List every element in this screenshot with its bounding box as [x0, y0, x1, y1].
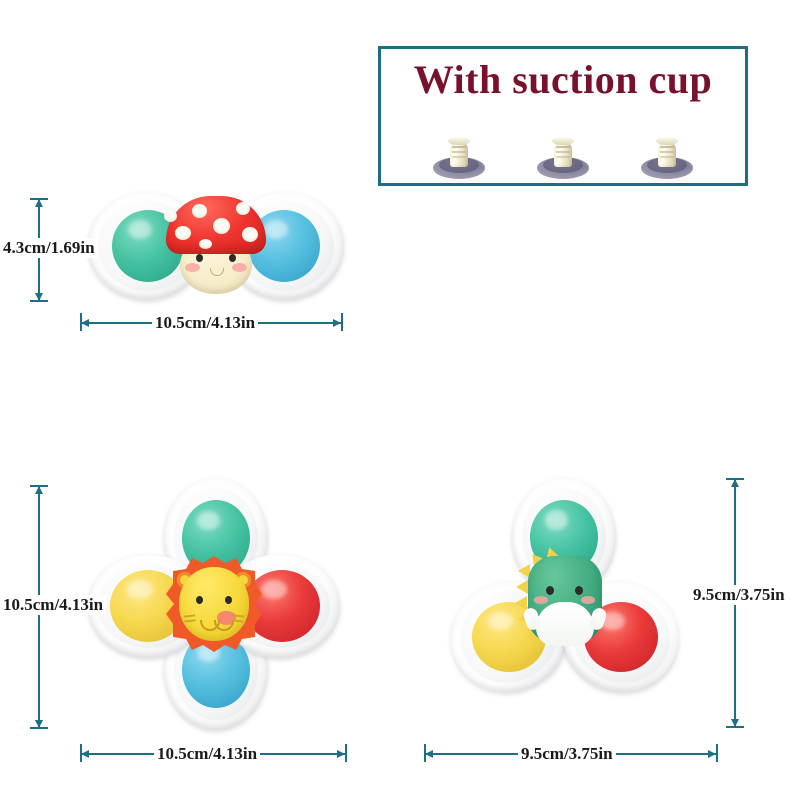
dinosaur-belly — [536, 602, 594, 646]
dimension-tick — [341, 313, 343, 331]
mushroom-eye-left — [196, 254, 203, 262]
dimension-arrow-down — [731, 719, 739, 727]
suction-cup-icon — [431, 137, 487, 181]
dimension-arrow-down — [35, 720, 43, 728]
lion-mouth-right — [214, 620, 234, 631]
dinosaur-cheek-left — [534, 596, 548, 604]
suction-cup-knob-top — [552, 137, 574, 145]
lion-whiskers-left — [184, 614, 195, 617]
dimension-arrow-right — [337, 750, 345, 758]
suction-cup-banner: With suction cup — [378, 46, 748, 186]
mushroom-cap — [166, 196, 266, 254]
mushroom-height-label: 4.3cm/1.69in — [0, 238, 98, 258]
mushroom-eye-right — [229, 254, 236, 262]
dimension-arrow-left — [81, 750, 89, 758]
dimension-arrow-down — [35, 293, 43, 301]
mushroom-cap-dot — [236, 202, 250, 215]
mushroom-cheek-right — [232, 263, 247, 272]
dimension-arrow-up — [35, 486, 43, 494]
suction-cup-icon — [535, 137, 591, 181]
lion-spinner — [88, 478, 340, 730]
dinosaur-spinner — [450, 478, 680, 708]
suction-cup-knob — [658, 143, 676, 167]
mushroom-spinner — [88, 186, 344, 308]
mushroom-cap-dot — [242, 227, 258, 242]
dinosaur-eye-left — [546, 586, 554, 595]
banner-title: With suction cup — [381, 59, 745, 101]
dinosaur-spike — [515, 596, 527, 610]
dimension-arrow-up — [731, 479, 739, 487]
suction-cup-row — [381, 133, 745, 181]
mushroom-cap-dot — [213, 218, 230, 234]
mushroom-mouth — [210, 268, 224, 276]
dinosaur-cheek-right — [581, 596, 595, 604]
lion-eye-left — [196, 596, 203, 604]
lion-face — [179, 567, 249, 641]
dimension-tick — [716, 744, 718, 762]
product-dimension-infographic: With suction cup — [0, 0, 800, 800]
dinosaur-character — [514, 550, 616, 650]
dinosaur-eye-right — [575, 586, 583, 595]
mushroom-cheek-left — [185, 263, 200, 272]
suction-cup-knob-top — [656, 137, 678, 145]
dimension-arrow-right — [708, 750, 716, 758]
lion-eye-right — [225, 596, 232, 604]
lion-width-label: 10.5cm/4.13in — [154, 744, 260, 764]
mushroom-width-label: 10.5cm/4.13in — [152, 313, 258, 333]
lion-height-label: 10.5cm/4.13in — [0, 595, 106, 615]
dimension-arrow-up — [35, 199, 43, 207]
dinosaur-width-label: 9.5cm/3.75in — [518, 744, 616, 764]
dinosaur-height-label: 9.5cm/3.75in — [690, 585, 788, 605]
suction-cup-icon — [639, 137, 695, 181]
dinosaur-spike — [516, 580, 528, 594]
mushroom-cap-dot — [164, 210, 177, 222]
dimension-arrow-left — [425, 750, 433, 758]
dimension-tick — [345, 744, 347, 762]
mushroom-cap-dot — [192, 204, 207, 218]
suction-cup-knob — [450, 143, 468, 167]
mushroom-cap-dot — [175, 226, 191, 240]
suction-cup-knob-top — [448, 137, 470, 145]
mushroom-character — [166, 196, 266, 300]
dimension-arrow-left — [81, 319, 89, 327]
dimension-arrow-right — [333, 319, 341, 327]
mushroom-cap-dot — [199, 239, 212, 249]
lion-character — [166, 556, 262, 652]
suction-cup-knob — [554, 143, 572, 167]
